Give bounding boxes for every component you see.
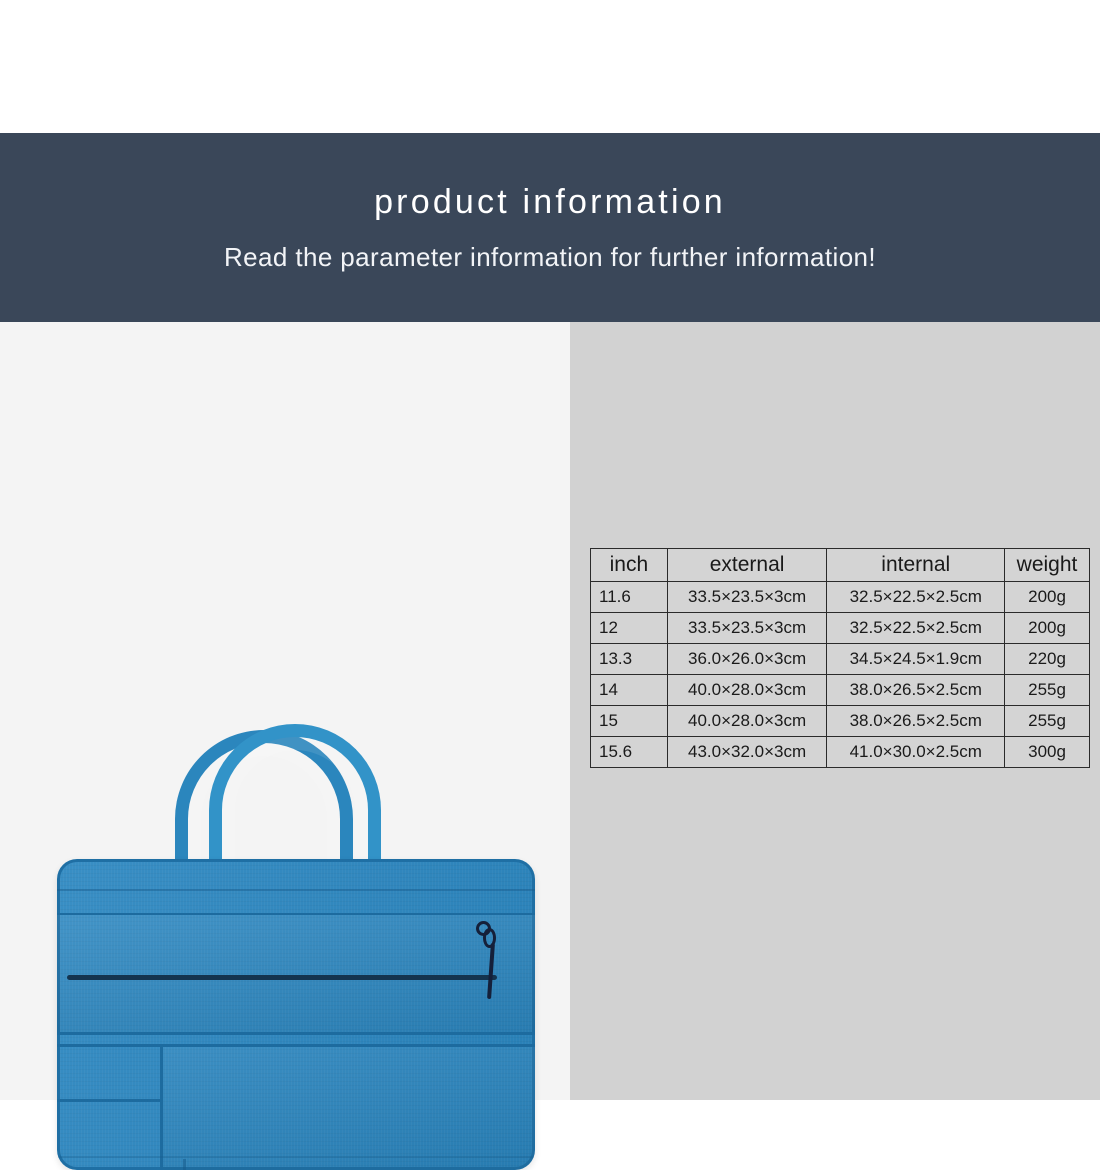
- cell-weight: 255g: [1005, 675, 1090, 706]
- bag-main-pocket: [160, 1044, 535, 1170]
- banner-subtitle: Read the parameter information for furth…: [224, 243, 876, 272]
- table-row: 12 33.5×23.5×3cm 32.5×22.5×2.5cm 200g: [591, 613, 1090, 644]
- cell-inch: 15.6: [591, 737, 668, 768]
- page-title: product information: [374, 184, 726, 221]
- cell-external: 33.5×23.5×3cm: [667, 582, 827, 613]
- column-header-weight: weight: [1005, 549, 1090, 582]
- cell-internal: 32.5×22.5×2.5cm: [827, 582, 1005, 613]
- cell-internal: 38.0×26.5×2.5cm: [827, 706, 1005, 737]
- table-row: 13.3 36.0×26.0×3cm 34.5×24.5×1.9cm 220g: [591, 644, 1090, 675]
- cell-weight: 200g: [1005, 613, 1090, 644]
- specification-table: inch external internal weight 11.6 33.5×…: [590, 548, 1090, 768]
- cell-weight: 300g: [1005, 737, 1090, 768]
- table-row: 14 40.0×28.0×3cm 38.0×26.5×2.5cm 255g: [591, 675, 1090, 706]
- cell-inch: 14: [591, 675, 668, 706]
- cell-internal: 32.5×22.5×2.5cm: [827, 613, 1005, 644]
- bag-body: [57, 859, 535, 1170]
- product-image-bag: [57, 718, 535, 1170]
- bag-front-zip-pocket: [57, 913, 535, 1035]
- cell-external: 40.0×28.0×3cm: [667, 675, 827, 706]
- cell-inch: 12: [591, 613, 668, 644]
- cell-external: 36.0×26.0×3cm: [667, 644, 827, 675]
- column-header-external: external: [667, 549, 827, 582]
- column-header-internal: internal: [827, 549, 1005, 582]
- cell-external: 33.5×23.5×3cm: [667, 613, 827, 644]
- zipper-icon: [67, 975, 497, 980]
- cell-internal: 34.5×24.5×1.9cm: [827, 644, 1005, 675]
- product-information-banner: product information Read the parameter i…: [0, 133, 1100, 322]
- cell-inch: 13.3: [591, 644, 668, 675]
- bag-bottom-seam: [57, 1156, 535, 1170]
- zipper-tail: [487, 943, 495, 999]
- table-row: 15 40.0×28.0×3cm 38.0×26.5×2.5cm 255g: [591, 706, 1090, 737]
- table-row: 11.6 33.5×23.5×3cm 32.5×22.5×2.5cm 200g: [591, 582, 1090, 613]
- product-photo-panel: [0, 322, 570, 1100]
- cell-weight: 200g: [1005, 582, 1090, 613]
- cell-internal: 41.0×30.0×2.5cm: [827, 737, 1005, 768]
- cell-weight: 255g: [1005, 706, 1090, 737]
- zipper-pull-icon: [474, 921, 500, 999]
- cell-internal: 38.0×26.5×2.5cm: [827, 675, 1005, 706]
- cell-inch: 11.6: [591, 582, 668, 613]
- cell-weight: 220g: [1005, 644, 1090, 675]
- cell-external: 40.0×28.0×3cm: [667, 706, 827, 737]
- table-header-row: inch external internal weight: [591, 549, 1090, 582]
- table-row: 15.6 43.0×32.0×3cm 41.0×30.0×2.5cm 300g: [591, 737, 1090, 768]
- cell-external: 43.0×32.0×3cm: [667, 737, 827, 768]
- cell-inch: 15: [591, 706, 668, 737]
- column-header-inch: inch: [591, 549, 668, 582]
- bag-top-seam: [57, 861, 535, 891]
